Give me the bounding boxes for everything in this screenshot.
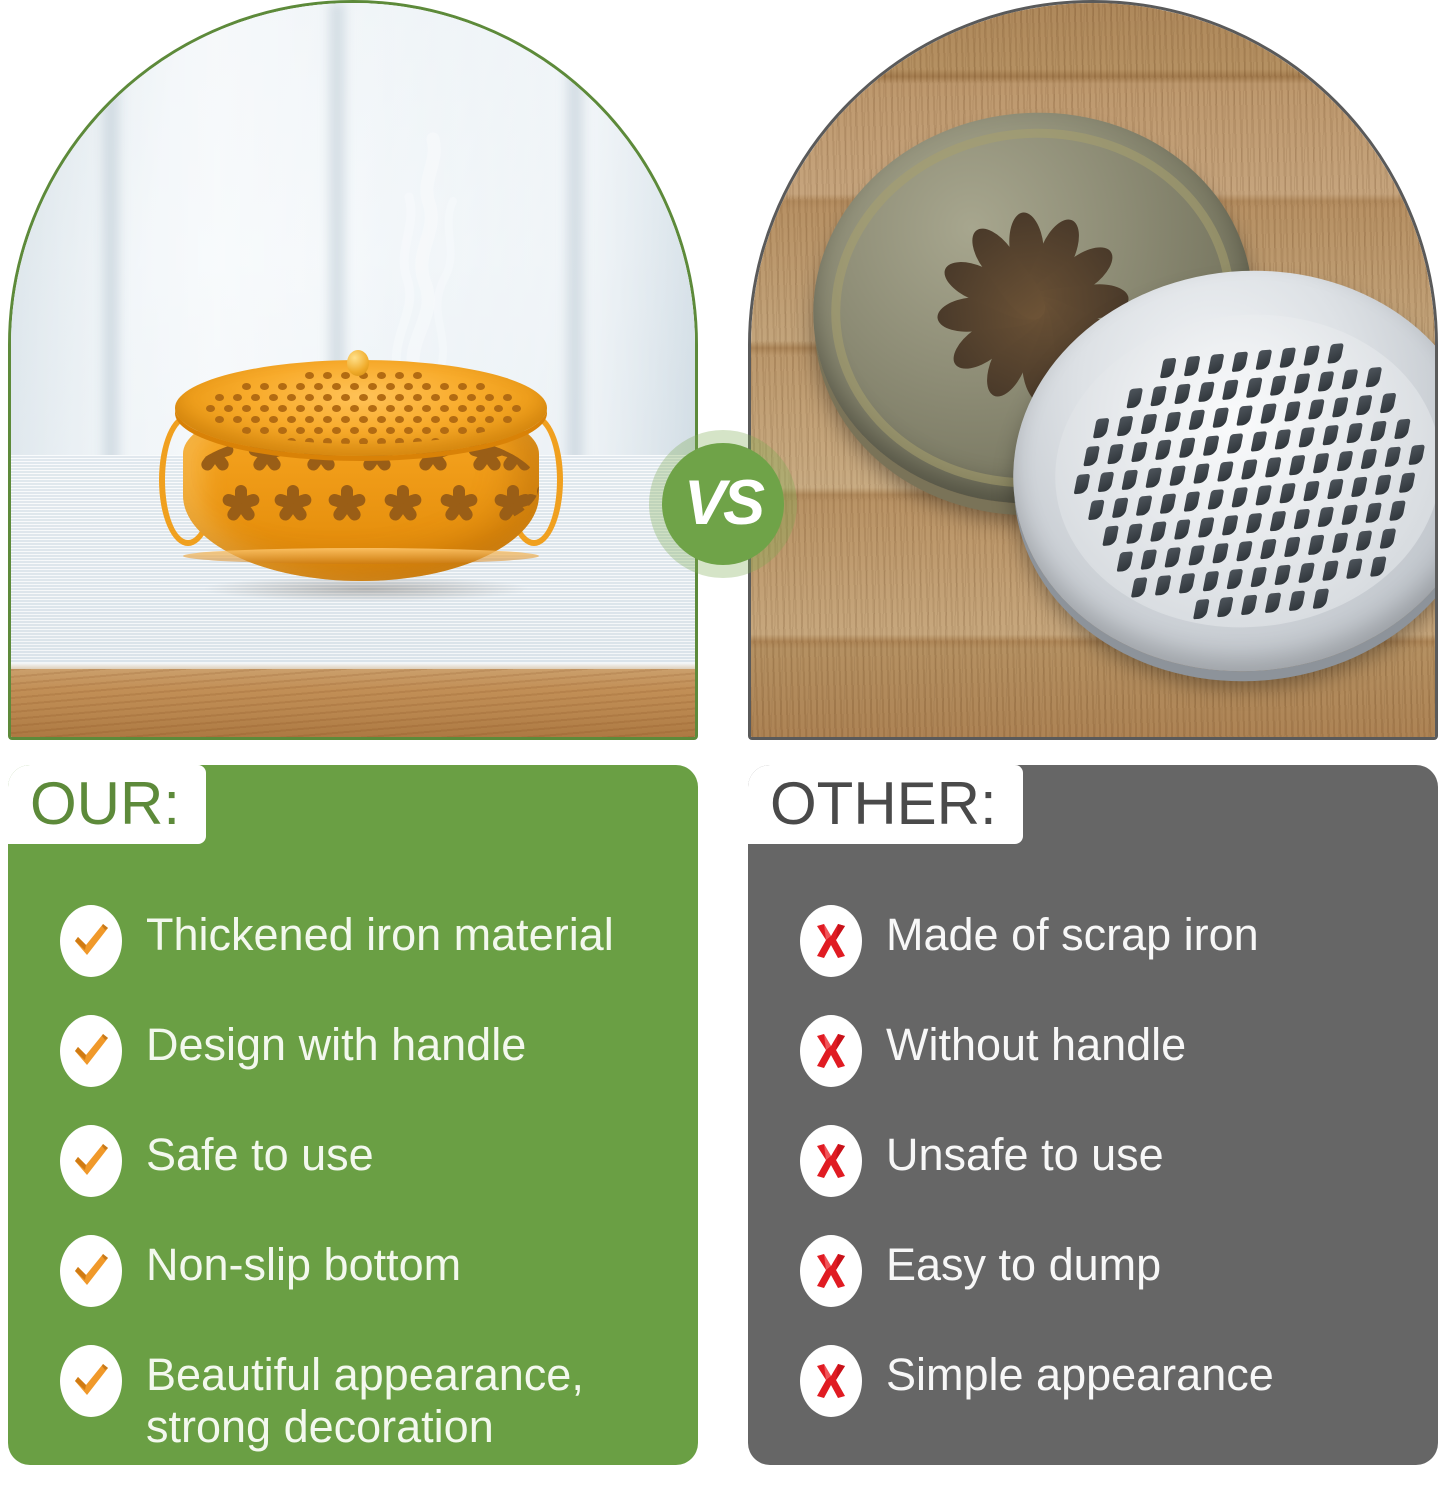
list-item: Non-slip bottom: [60, 1233, 672, 1307]
grater-spike: [1184, 491, 1201, 512]
grater-spike: [1217, 461, 1234, 482]
lid-hole: [341, 416, 350, 423]
grater-spike: [1074, 474, 1091, 495]
grater-spike: [1098, 472, 1115, 493]
grater-spike: [1342, 505, 1359, 526]
grater-spike: [1227, 569, 1244, 590]
grater-spike: [1265, 457, 1282, 478]
grater-spike: [1112, 497, 1129, 518]
grater-spike: [1251, 431, 1268, 452]
lid-hole: [422, 405, 431, 412]
vs-label: VS: [684, 472, 762, 535]
lid-hole: [377, 416, 386, 423]
lid-hole: [278, 427, 287, 434]
lid-hole: [296, 427, 305, 434]
grater-spike: [1165, 547, 1182, 568]
product-comparison-photos: VS: [0, 0, 1445, 745]
grater-spike: [1251, 567, 1268, 588]
smoke-wisp-icon: [321, 123, 501, 383]
lid-hole: [242, 405, 251, 412]
grater-spike: [1179, 573, 1196, 594]
grater-spike: [1265, 593, 1282, 614]
lid-hole: [413, 372, 422, 379]
lid-hole: [485, 416, 494, 423]
lid-hole: [377, 438, 386, 444]
grater-spike: [1294, 373, 1311, 394]
grater-spike: [1327, 479, 1344, 500]
lid-hole: [323, 372, 332, 379]
lid-hole: [287, 438, 296, 444]
grater-spike: [1260, 539, 1277, 560]
lid-hole: [476, 405, 485, 412]
check-icon: [60, 1235, 122, 1307]
grater-spike: [1313, 588, 1330, 609]
lid-hole: [449, 394, 458, 401]
grater-spike: [1304, 345, 1321, 366]
grater-spike: [1370, 556, 1387, 577]
grater-spike: [1308, 399, 1325, 420]
grater-spike: [1394, 419, 1411, 440]
grater-spike: [1342, 369, 1359, 390]
lid-hole: [395, 416, 404, 423]
lid-hole: [377, 372, 386, 379]
daisy-petal-cutout: [945, 287, 1052, 378]
lid-hole: [314, 427, 323, 434]
lid-hole: [485, 394, 494, 401]
grater-spike: [1107, 444, 1124, 465]
lid-hole: [467, 394, 476, 401]
grater-spike: [1328, 343, 1345, 364]
list-item: Unsafe to use: [800, 1123, 1412, 1197]
grater-spike: [1174, 384, 1191, 405]
lid-hole: [233, 416, 242, 423]
flower-cutout: [521, 482, 539, 526]
grater-spike: [1256, 349, 1273, 370]
list-item: Easy to dump: [800, 1233, 1412, 1307]
lid-hole: [476, 427, 485, 434]
lid-hole: [422, 427, 431, 434]
grater-spike: [1131, 577, 1148, 598]
grater-spike: [1236, 541, 1253, 562]
grater-spike: [1160, 493, 1177, 514]
lid-hole: [440, 427, 449, 434]
lid-hole: [341, 372, 350, 379]
spike-grid: [1042, 299, 1435, 643]
list-item: Beautiful appearance, strong decoration: [60, 1343, 672, 1453]
grater-spike: [1103, 525, 1120, 546]
grater-spike: [1084, 446, 1101, 467]
vs-badge: VS: [649, 430, 797, 578]
grater-spike: [1370, 421, 1387, 442]
grater-spike: [1150, 521, 1167, 542]
lid-hole: [215, 416, 224, 423]
our-product-photo: [8, 0, 698, 740]
grater-spike: [1241, 595, 1258, 616]
grater-spike: [1213, 407, 1230, 428]
grater-spike: [1275, 565, 1292, 586]
grater-spike: [1303, 481, 1320, 502]
grater-spike: [1198, 517, 1215, 538]
grater-spike: [1323, 425, 1340, 446]
lid-hole: [359, 394, 368, 401]
list-item-label: Thickened iron material: [146, 903, 614, 961]
lid-hole: [404, 383, 413, 390]
lid-hole: [260, 427, 269, 434]
lid-hole: [332, 427, 341, 434]
lid-hole: [269, 394, 278, 401]
holder-rim-bottom: [183, 548, 539, 564]
lid-hole: [206, 405, 215, 412]
grater-spike: [1313, 453, 1330, 474]
lid-hole: [287, 416, 296, 423]
lid-hole: [305, 416, 314, 423]
lid-hole: [404, 427, 413, 434]
lid-hole: [386, 405, 395, 412]
lid-hole: [440, 383, 449, 390]
daisy-center: [1009, 286, 1057, 330]
grater-spike: [1227, 433, 1244, 454]
grater-spike: [1284, 401, 1301, 422]
list-item-label: Easy to dump: [886, 1233, 1161, 1291]
grater-spike: [1126, 523, 1143, 544]
flower-cutout: [271, 482, 315, 526]
grater-spike: [1399, 472, 1416, 493]
our-product-photo-canvas: [11, 3, 695, 737]
lid-hole: [377, 394, 386, 401]
grater-spike: [1375, 474, 1392, 495]
grater-spike: [1155, 440, 1172, 461]
lid-hole: [440, 405, 449, 412]
list-item: Thickened iron material: [60, 903, 672, 977]
grater-spike: [1198, 382, 1215, 403]
grater-spike: [1088, 500, 1105, 521]
lid-hole: [413, 394, 422, 401]
list-item: Made of scrap iron: [800, 903, 1412, 977]
lid-hole: [494, 405, 503, 412]
list-item: Design with handle: [60, 1013, 672, 1087]
lid-hole: [305, 372, 314, 379]
grater-spike: [1160, 358, 1177, 379]
lid-hole: [431, 438, 440, 444]
grater-spike: [1151, 386, 1168, 407]
lid-hole: [233, 394, 242, 401]
lid-hole: [368, 427, 377, 434]
grater-spike: [1261, 403, 1278, 424]
grater-spike: [1389, 500, 1406, 521]
comparison-panels: OUR: Thickened iron material: [0, 765, 1445, 1489]
grater-spike: [1385, 447, 1402, 468]
lid-hole: [395, 438, 404, 444]
grater-spike: [1241, 459, 1258, 480]
grater-spike: [1256, 485, 1273, 506]
grater-spike: [1294, 509, 1311, 530]
grater-spike: [1217, 597, 1234, 618]
coil-holder-product: [161, 348, 561, 618]
grater-spike: [1380, 393, 1397, 414]
grater-spike: [1093, 418, 1110, 439]
cross-icon: [800, 1345, 862, 1417]
grater-spike: [1280, 347, 1297, 368]
lid-hole: [305, 394, 314, 401]
grater-spike: [1380, 528, 1397, 549]
lid-hole: [413, 416, 422, 423]
lid-hole: [296, 383, 305, 390]
wooden-table-front: [11, 669, 695, 737]
lid-hole: [323, 438, 332, 444]
lid-hole: [395, 372, 404, 379]
lid-hole: [422, 383, 431, 390]
grater-spike: [1146, 467, 1163, 488]
list-item-label: Beautiful appearance, strong decoration: [146, 1343, 584, 1453]
other-product-photo-canvas: [751, 3, 1435, 737]
check-icon: [60, 1125, 122, 1197]
grater-spike: [1366, 367, 1383, 388]
lid-hole: [503, 416, 512, 423]
lid-hole: [386, 427, 395, 434]
grater-spike: [1246, 377, 1263, 398]
lid-hole: [224, 405, 233, 412]
grater-spike: [1222, 379, 1239, 400]
lid-hole: [476, 383, 485, 390]
lid-hole: [242, 427, 251, 434]
daisy-petal-cutout: [963, 220, 1054, 327]
flower-cutout: [437, 482, 481, 526]
grater-spike: [1318, 371, 1335, 392]
grater-spike: [1356, 395, 1373, 416]
grater-spike: [1366, 502, 1383, 523]
grater-spike: [1127, 388, 1144, 409]
grater-spike: [1237, 405, 1254, 426]
lid-hole: [278, 383, 287, 390]
grater-spike: [1203, 571, 1220, 592]
grater-spike: [1289, 590, 1306, 611]
grater-spike: [1284, 537, 1301, 558]
list-item-label: Simple appearance: [886, 1343, 1274, 1401]
lid-hole: [413, 438, 422, 444]
grater-spike: [1280, 483, 1297, 504]
grater-spike: [1322, 560, 1339, 581]
grater-spike: [1203, 435, 1220, 456]
lid-hole: [260, 383, 269, 390]
list-item: Without handle: [800, 1013, 1412, 1087]
daisy-petal-cutout: [936, 290, 1047, 335]
grater-spike: [1117, 551, 1134, 572]
list-item-label: Without handle: [886, 1013, 1186, 1071]
lid-hole: [368, 405, 377, 412]
grater-spike: [1117, 416, 1134, 437]
lid-perforations: [193, 368, 529, 444]
grater-spike: [1275, 429, 1292, 450]
lid-hole: [350, 427, 359, 434]
lid-hole: [359, 416, 368, 423]
grater-spike: [1136, 495, 1153, 516]
lid-hole: [341, 438, 350, 444]
grater-spike: [1170, 465, 1187, 486]
lid-hole: [449, 416, 458, 423]
grater-spike: [1208, 354, 1225, 375]
lid-hole: [395, 394, 404, 401]
other-features-panel: OTHER: Made of scrap iron: [748, 765, 1438, 1465]
daisy-petal-cutout: [1013, 213, 1088, 325]
lid-hole: [314, 405, 323, 412]
list-item-label: Safe to use: [146, 1123, 374, 1181]
our-features-panel: OUR: Thickened iron material: [8, 765, 698, 1465]
lid-knob: [347, 350, 369, 376]
vs-badge-circle: VS: [662, 443, 784, 565]
list-item: Simple appearance: [800, 1343, 1412, 1417]
grater-spike: [1318, 507, 1335, 528]
lid-hole: [314, 383, 323, 390]
our-feature-list: Thickened iron material Design with hand…: [8, 903, 698, 1453]
grater-spike: [1193, 599, 1210, 620]
cross-icon: [800, 905, 862, 977]
grater-spike: [1155, 575, 1172, 596]
grater-spike: [1222, 515, 1239, 536]
lid-hole: [458, 405, 467, 412]
grater-spike: [1174, 519, 1191, 540]
lid-hole: [512, 405, 521, 412]
grater-spike: [1122, 470, 1139, 491]
lid-hole: [251, 394, 260, 401]
lid-hole: [431, 394, 440, 401]
lid-hole: [323, 394, 332, 401]
grater-spike: [1193, 463, 1210, 484]
lid-hole: [404, 405, 413, 412]
grater-spike: [1165, 412, 1182, 433]
check-icon: [60, 1015, 122, 1087]
check-icon: [60, 905, 122, 977]
lid-hole: [251, 416, 260, 423]
grater-spike: [1332, 532, 1349, 553]
lid-hole: [287, 394, 296, 401]
grater-spike: [1212, 543, 1229, 564]
grater-spike: [1184, 356, 1201, 377]
flower-cutout: [381, 482, 425, 526]
check-icon: [60, 1345, 122, 1417]
grater-spike: [1141, 414, 1158, 435]
flower-cutout: [325, 482, 369, 526]
grater-spike: [1189, 545, 1206, 566]
lid-hole: [242, 383, 251, 390]
lid-hole: [269, 416, 278, 423]
lid-hole: [458, 427, 467, 434]
grater-spike: [1232, 487, 1249, 508]
grater-spike: [1308, 535, 1325, 556]
lid-hole: [350, 405, 359, 412]
grater-spike: [1361, 449, 1378, 470]
flower-cutout: [219, 482, 263, 526]
lid-hole: [332, 383, 341, 390]
lid-hole: [260, 405, 269, 412]
lid-hole: [359, 438, 368, 444]
list-item-label: Design with handle: [146, 1013, 526, 1071]
daisy-petal-cutout: [938, 253, 1050, 328]
grater-spike: [1351, 477, 1368, 498]
lid-hole: [323, 416, 332, 423]
lid-hole: [350, 383, 359, 390]
lid-hole: [332, 405, 341, 412]
lid-hole: [296, 405, 305, 412]
cross-icon: [800, 1015, 862, 1087]
grater-spike: [1347, 423, 1364, 444]
lid-hole: [305, 438, 314, 444]
grater-spike: [1189, 409, 1206, 430]
other-panel-title: OTHER:: [748, 765, 1023, 844]
grater-spike: [1232, 351, 1249, 372]
lid-hole: [278, 405, 287, 412]
our-panel-title: OUR:: [8, 765, 206, 844]
daisy-petal-cutout: [1006, 211, 1051, 322]
other-feature-list: Made of scrap iron Without handle: [748, 903, 1438, 1417]
grater-spike: [1246, 513, 1263, 534]
grater-spike: [1337, 451, 1354, 472]
grater-spike: [1270, 511, 1287, 532]
grater-spike: [1208, 489, 1225, 510]
list-item-label: Non-slip bottom: [146, 1233, 461, 1291]
list-item-label: Unsafe to use: [886, 1123, 1164, 1181]
grater-spike: [1332, 397, 1349, 418]
grater-spike: [1289, 455, 1306, 476]
grater-spike: [1141, 549, 1158, 570]
list-item: Safe to use: [60, 1123, 672, 1197]
grater-spike: [1179, 437, 1196, 458]
grater-spike: [1409, 444, 1426, 465]
grater-spike: [1299, 562, 1316, 583]
grater-spike: [1131, 442, 1148, 463]
lid-hole: [467, 416, 476, 423]
cross-icon: [800, 1235, 862, 1307]
grater-spike: [1356, 530, 1373, 551]
grater-spike: [1299, 427, 1316, 448]
lid-hole: [341, 394, 350, 401]
grater-spike: [1270, 375, 1287, 396]
lid-hole: [368, 383, 377, 390]
list-item-label: Made of scrap iron: [886, 903, 1259, 961]
cross-icon: [800, 1125, 862, 1197]
lid-hole: [215, 394, 224, 401]
lid-hole: [458, 383, 467, 390]
lid-hole: [503, 394, 512, 401]
lid-hole: [431, 416, 440, 423]
lid-hole: [386, 383, 395, 390]
grater-spike: [1346, 558, 1363, 579]
other-product-photo: [748, 0, 1438, 740]
